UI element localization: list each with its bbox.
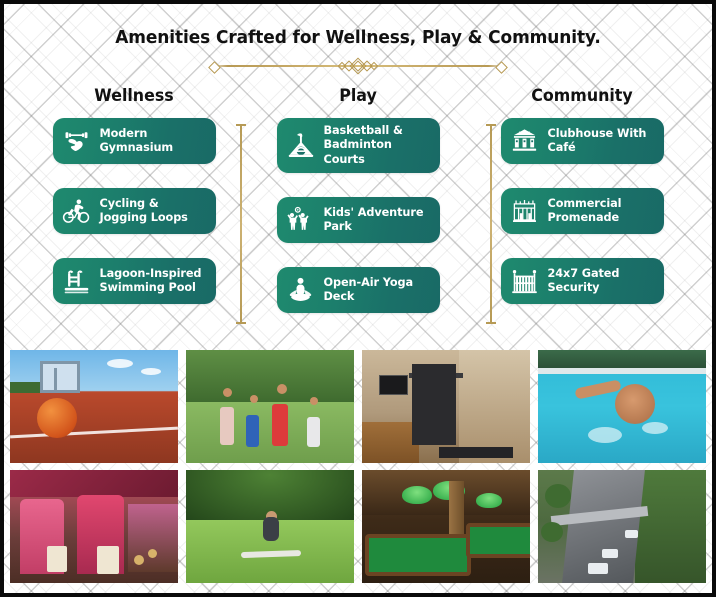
amenity-card-open-air-yoga-deck[interactable]: Open-Air Yoga Deck xyxy=(277,267,440,313)
water-splash-shape xyxy=(588,427,622,443)
amenity-card-basketball-badminton-courts[interactable]: Basketball & Badminton Courts xyxy=(277,118,440,173)
column-headings: Wellness Play Community xyxy=(4,86,712,105)
market-canopy-shape xyxy=(10,470,178,497)
produce-shape xyxy=(148,549,157,558)
divider-end-diamond-left xyxy=(208,61,221,74)
greenery-shape xyxy=(635,470,706,583)
ornamental-divider xyxy=(210,56,506,76)
divider-vertical-line xyxy=(240,126,242,322)
photo-child-swimming-pool xyxy=(538,350,706,463)
yoga-meditation-icon xyxy=(286,275,316,305)
clubhouse-building-icon xyxy=(510,126,540,156)
child-head-shape xyxy=(250,395,258,403)
cloud-shape xyxy=(107,359,133,368)
child-head-shape xyxy=(277,384,287,394)
pool-ladder-icon xyxy=(62,266,92,296)
pendant-lamp-shape xyxy=(402,486,432,504)
column-heading-play: Play xyxy=(250,86,465,105)
amenity-label: Open-Air Yoga Deck xyxy=(324,276,430,305)
car-shape xyxy=(602,549,618,558)
column-heading-wellness: Wellness xyxy=(26,86,241,105)
cyclist-icon xyxy=(62,196,92,226)
basketball-hoop-shape xyxy=(40,361,80,393)
cloud-shape xyxy=(141,368,161,375)
child-head-shape xyxy=(310,397,318,405)
photo-market-shopping-women xyxy=(10,470,178,583)
photo-children-running-park xyxy=(186,350,354,463)
tree-shape xyxy=(545,484,571,508)
amenity-card-24x7-gated-security[interactable]: 24x7 Gated Security xyxy=(501,258,664,304)
dumbbell-arm-icon xyxy=(62,126,92,156)
photo-grid xyxy=(4,350,712,583)
billiards-table-shape xyxy=(466,523,530,558)
column-heading-community: Community xyxy=(474,86,689,105)
amenity-card-cycling-jogging-loops[interactable]: Cycling & Jogging Loops xyxy=(53,188,216,234)
page-title: Amenities Crafted for Wellness, Play & C… xyxy=(15,4,702,48)
security-gate-icon xyxy=(510,266,540,296)
amenity-card-lagoon-inspired-swimming-pool[interactable]: Lagoon-Inspired Swimming Pool xyxy=(53,258,216,304)
shopping-bag-shape xyxy=(97,546,119,574)
car-shape xyxy=(625,530,638,538)
child-body-shape xyxy=(307,417,320,447)
swimmer-arm-shape xyxy=(574,379,621,399)
water-splash-shape xyxy=(642,422,668,434)
column-play: Basketball & Badminton Courts xyxy=(246,118,470,334)
amenity-card-modern-gymnasium[interactable]: Modern Gymnasium xyxy=(53,118,216,164)
tree-canopy-shape xyxy=(186,350,354,402)
divider-end-diamond-right xyxy=(495,61,508,74)
amenity-label: Commercial Promenade xyxy=(548,197,654,226)
gym-floor-shape xyxy=(362,422,419,463)
car-shape xyxy=(588,563,608,574)
gym-bench-shape xyxy=(439,447,513,458)
amenity-label: Cycling & Jogging Loops xyxy=(100,197,206,226)
basketball-hoop-icon xyxy=(286,131,316,161)
gym-machine-shape xyxy=(412,364,456,445)
shops-promenade-icon xyxy=(510,196,540,226)
swimmer-head-shape xyxy=(615,384,655,424)
amenity-label: Kids' Adventure Park xyxy=(324,206,430,235)
child-body-shape xyxy=(272,404,288,446)
amenity-label: Modern Gymnasium xyxy=(100,127,206,156)
billiards-table-shape xyxy=(365,534,470,576)
photo-aerial-street-greenery xyxy=(538,470,706,583)
wall-screen-shape xyxy=(379,375,408,395)
photo-outdoor-yoga-lawn xyxy=(186,470,354,583)
children-playing-icon xyxy=(286,205,316,235)
amenity-columns: Modern Gymnasium xyxy=(4,118,712,334)
column-community: Clubhouse With Café xyxy=(470,118,694,334)
amenity-label: Lagoon-Inspired Swimming Pool xyxy=(100,267,206,296)
column-wellness: Modern Gymnasium xyxy=(22,118,246,334)
gym-wall-shape xyxy=(459,350,530,463)
poster-content: Amenities Crafted for Wellness, Play & C… xyxy=(4,4,712,583)
photo-basketball-court xyxy=(10,350,178,463)
pool-edge-shape xyxy=(538,368,706,374)
basketball-shape xyxy=(37,398,77,438)
yogi-body-shape xyxy=(263,517,279,541)
pendant-lamp-shape xyxy=(476,493,502,508)
amenity-label: Clubhouse With Café xyxy=(548,127,654,156)
diamond-cluster-icon xyxy=(327,56,389,81)
divider-cap-bottom xyxy=(236,322,246,324)
poolside-greenery-shape xyxy=(538,350,706,368)
column-divider-right xyxy=(486,120,496,328)
amenity-card-kids-adventure-park[interactable]: Kids' Adventure Park xyxy=(277,197,440,243)
amenity-card-commercial-promenade[interactable]: Commercial Promenade xyxy=(501,188,664,234)
column-divider-left xyxy=(236,120,246,328)
amenities-poster: Amenities Crafted for Wellness, Play & C… xyxy=(0,0,716,597)
photo-gymnasium-equipment xyxy=(362,350,530,463)
child-body-shape xyxy=(220,407,234,445)
photo-billiards-table-room xyxy=(362,470,530,583)
shopping-bag-shape xyxy=(47,546,67,572)
amenity-label: Basketball & Badminton Courts xyxy=(324,124,430,167)
tree-shape xyxy=(541,522,563,542)
amenity-label: 24x7 Gated Security xyxy=(548,267,654,296)
amenity-card-clubhouse-with-cafe[interactable]: Clubhouse With Café xyxy=(501,118,664,164)
child-body-shape xyxy=(246,415,259,447)
divider-cap-bottom xyxy=(486,322,496,324)
divider-vertical-line xyxy=(490,126,492,322)
